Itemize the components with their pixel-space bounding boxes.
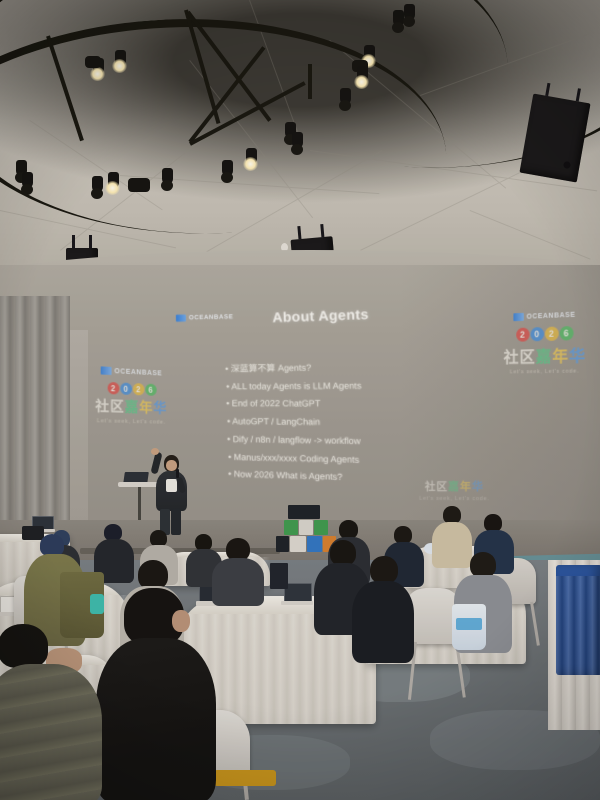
foreground-attendee-olive-puffer (0, 624, 102, 800)
year-digit: 2 (516, 328, 529, 342)
display-box (314, 520, 328, 535)
title-char: 嘉 (125, 399, 139, 415)
year-digit: 2 (544, 327, 558, 341)
year-digit: 6 (145, 384, 156, 396)
conference-photo-scene: OCEANBASE About Agents 深蓝算不算 Agents? ALL… (0, 0, 600, 800)
year-digit: 6 (559, 326, 573, 341)
presenter-shirt-graphic (166, 479, 177, 492)
yellow-seat-cushion (214, 770, 276, 786)
title-char: 社 (425, 481, 437, 493)
display-box (288, 505, 320, 519)
title-char: 华 (153, 400, 167, 416)
banner-projection-left: OCEANBASE 2 0 2 6 社区嘉年华 Let's seek, Let'… (87, 366, 175, 426)
banner-right-year: 2 0 2 6 (495, 325, 596, 342)
spotlight-off (292, 132, 303, 148)
spotlight (357, 66, 368, 82)
oceanbase-logo-icon (176, 315, 186, 322)
spotlight-off (22, 172, 33, 188)
display-box (276, 536, 289, 552)
title-char: 区 (520, 349, 536, 366)
banner-wall-tagline: Let's seek, Let's code. (413, 496, 496, 502)
stand-leg (138, 487, 141, 520)
banner-right-title: 社区嘉年华 (495, 342, 596, 368)
slide-logo-text: OCEANBASE (189, 313, 234, 321)
slide-title: About Agents (272, 307, 369, 326)
title-char: 区 (436, 481, 448, 493)
year-digit: 2 (132, 383, 143, 395)
title-char: 年 (139, 399, 153, 415)
oceanbase-logo-icon (513, 313, 523, 321)
year-digit: 2 (107, 382, 119, 395)
banner-left-year: 2 0 2 6 (87, 381, 175, 397)
title-char: 华 (472, 481, 484, 493)
spotlight-off (92, 176, 103, 192)
display-box (290, 536, 306, 552)
slide-oceanbase-logo: OCEANBASE (176, 313, 234, 321)
title-char: 社 (95, 398, 110, 415)
banner-projection-right: OCEANBASE 2 0 2 6 社区嘉年华 Let's seek, Let'… (495, 310, 596, 376)
slide-bullet: End of 2022 ChatGPT (226, 400, 449, 410)
spotlight-off (222, 160, 233, 176)
tablet-stand[interactable] (270, 563, 288, 589)
slide-bullet: ALL today Agents is LLM Agents (226, 381, 449, 392)
spotlight (115, 50, 126, 66)
title-char: 年 (552, 348, 569, 365)
display-box (299, 520, 313, 535)
spotlight (364, 45, 375, 61)
banner-wall-title: 社区嘉年华 (413, 478, 496, 494)
title-char: 华 (569, 348, 586, 366)
spotlight (108, 172, 119, 188)
title-char: 年 (460, 481, 472, 493)
slide-bullet: 深蓝算不算 Agents? (225, 361, 448, 374)
foreground-attendee-black-coat (96, 588, 216, 800)
banner-left-logo-text: OCEANBASE (114, 368, 162, 377)
slide-bullet: Manus/xxx/xxxx Coding Agents (228, 452, 451, 466)
spotlight (246, 148, 257, 164)
banner-projection-wall: 社区嘉年华 Let's seek, Let's code. (413, 478, 496, 502)
projected-slide: OCEANBASE About Agents 深蓝算不算 Agents? ALL… (168, 305, 403, 499)
spotlight-off (404, 4, 415, 20)
bag-logo (456, 618, 482, 630)
display-box (284, 520, 298, 535)
slide-bullet-list: 深蓝算不算 Agents? ALL today Agents is LLM Ag… (185, 361, 448, 495)
banner-right-logo-text: OCEANBASE (527, 311, 576, 320)
microphone-icon (176, 469, 179, 478)
banner-left-title: 社区嘉年华 (87, 395, 175, 418)
slide-bullet: AutoGPT / LangChain (227, 417, 450, 428)
spotlight-housing (85, 56, 101, 68)
title-char: 社 (504, 350, 520, 367)
presenter-raised-arm (150, 451, 162, 474)
oceanbase-logo-icon (101, 366, 112, 375)
year-digit: 0 (530, 327, 543, 341)
presenter-hand (151, 448, 159, 455)
year-digit: 0 (120, 382, 132, 395)
laptop-screen (284, 583, 312, 603)
truss-brace (308, 64, 312, 99)
presenter-on-stage (150, 455, 196, 533)
laptop-base (281, 601, 313, 605)
spotlight-off (340, 88, 351, 104)
title-char: 嘉 (536, 349, 553, 366)
blue-draped-table (556, 565, 600, 675)
banner-right-tagline: Let's seek, Let's code. (495, 368, 596, 375)
audience-member (212, 538, 264, 602)
spotlight-off (393, 10, 404, 26)
attendee-face (172, 610, 190, 632)
title-char: 区 (110, 398, 125, 415)
spotlight-off (162, 168, 173, 184)
slide-bullet: Dify / n8n / langflow -> workflow (227, 435, 450, 448)
spotlight-housing (128, 178, 150, 192)
audience-member (352, 556, 414, 660)
title-char: 嘉 (448, 481, 460, 493)
